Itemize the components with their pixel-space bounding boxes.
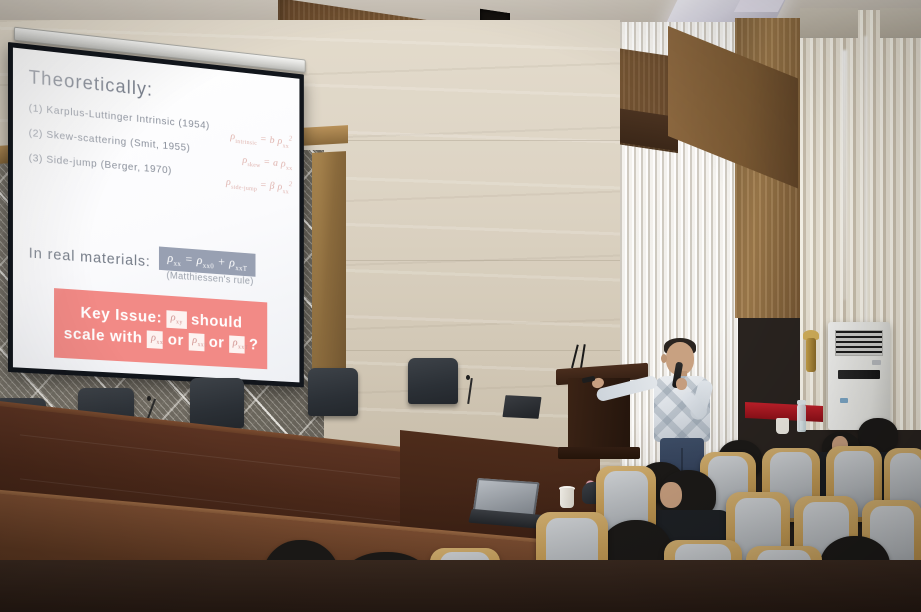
- key-issue-symbol-rho-xy: ρxy: [167, 310, 187, 328]
- eq-lhs-sub: intrinsic: [235, 138, 257, 147]
- ac-brand-logo: [872, 360, 881, 365]
- panel-chair: [408, 358, 458, 404]
- panel-chair: [190, 378, 244, 428]
- sym-sub: xxT: [238, 345, 248, 351]
- key-issue-symbol-rho-xx0: ρxx0: [188, 333, 204, 351]
- key-issue-symbol-rho-xxT: ρxxT: [229, 336, 244, 354]
- eq-rhs: = b ρ: [260, 133, 283, 147]
- sym-sub: xx: [156, 340, 163, 346]
- meq-plus: +: [217, 254, 225, 269]
- ac-louver-grille: [835, 330, 883, 356]
- presenter-mic-hand: [676, 378, 687, 390]
- sym-sub: xy: [176, 320, 183, 326]
- projection-screen[interactable]: Theoretically: (1) Karplus-Luttinger Int…: [8, 42, 304, 387]
- wall-lamp: [806, 338, 816, 372]
- meq-term1-sub: xx0: [203, 261, 214, 271]
- meq-term2-sub: xxT: [235, 263, 247, 273]
- eq-rhs: = β ρ: [260, 179, 283, 192]
- floor: [0, 560, 921, 612]
- panel-chair: [308, 368, 358, 416]
- curtain-valance-left: [800, 8, 858, 38]
- screen-surface: Theoretically: (1) Karplus-Luttinger Int…: [13, 48, 299, 383]
- paper-cup: [560, 488, 574, 508]
- equation-skew: ρskew = a ρxx: [183, 148, 292, 172]
- paper-cup-right: [776, 418, 789, 434]
- lecture-hall-photo: Theoretically: (1) Karplus-Luttinger Int…: [0, 0, 921, 612]
- sym-sub: xx0: [198, 343, 208, 349]
- window-light-gap: [842, 50, 847, 300]
- curtain-valance-right: [880, 8, 921, 38]
- desk-microphone-head-icon: [147, 396, 151, 401]
- eq-rhs-sub: xx: [283, 188, 289, 195]
- eq-rhs-sup: 2: [289, 180, 292, 188]
- eq-lhs-sub: skew: [247, 161, 260, 169]
- podium-base: [558, 447, 640, 459]
- ac-display-panel[interactable]: [838, 370, 880, 379]
- eq-rhs-sup: 2: [289, 135, 292, 143]
- key-issue-box: Key Issue: ρxy should scale with ρxx or …: [54, 288, 267, 369]
- dais-laptop[interactable]: [502, 395, 541, 419]
- recessed-ceiling-light-secondary: [734, 0, 784, 12]
- equation-side-jump: ρside-jump = β ρxx2: [183, 171, 292, 196]
- meq-lhs-sub: xx: [174, 259, 182, 268]
- eq-lhs-sub: side-jump: [231, 184, 257, 193]
- desk-microphone-head-icon: [466, 375, 470, 380]
- mechanism-equations: ρintrinsic = b ρxx2 ρskew = a ρxx ρside-…: [183, 124, 292, 204]
- key-issue-question-mark: ?: [249, 337, 258, 355]
- marble-seam: [330, 140, 620, 141]
- key-issue-or-1: or: [168, 332, 184, 350]
- audience-face: [660, 482, 682, 508]
- real-materials-label: In real materials:: [29, 245, 151, 271]
- water-bottle: [797, 404, 806, 432]
- key-issue-scale-with: scale with: [64, 325, 143, 347]
- presenter-ear: [661, 354, 667, 363]
- meq-equals: =: [185, 251, 194, 266]
- window-light-gap-secondary: [864, 36, 867, 326]
- marble-seam: [330, 260, 620, 261]
- key-issue-or-2: or: [209, 334, 225, 352]
- presentation-slide: Theoretically: (1) Karplus-Luttinger Int…: [13, 48, 299, 383]
- screen-frame: Theoretically: (1) Karplus-Luttinger Int…: [8, 42, 304, 387]
- ac-badge-icon: [840, 398, 848, 403]
- eq-rhs-sub: xx: [286, 165, 292, 172]
- floor-standing-air-conditioner: [828, 322, 890, 430]
- key-issue-prefix: Key Issue:: [81, 305, 163, 328]
- key-issue-symbol-rho-xx: ρxx: [147, 331, 163, 349]
- eq-rhs-sub: xx: [283, 142, 289, 149]
- eq-rhs: = a ρ: [263, 156, 286, 170]
- key-issue-suffix: should: [191, 312, 242, 333]
